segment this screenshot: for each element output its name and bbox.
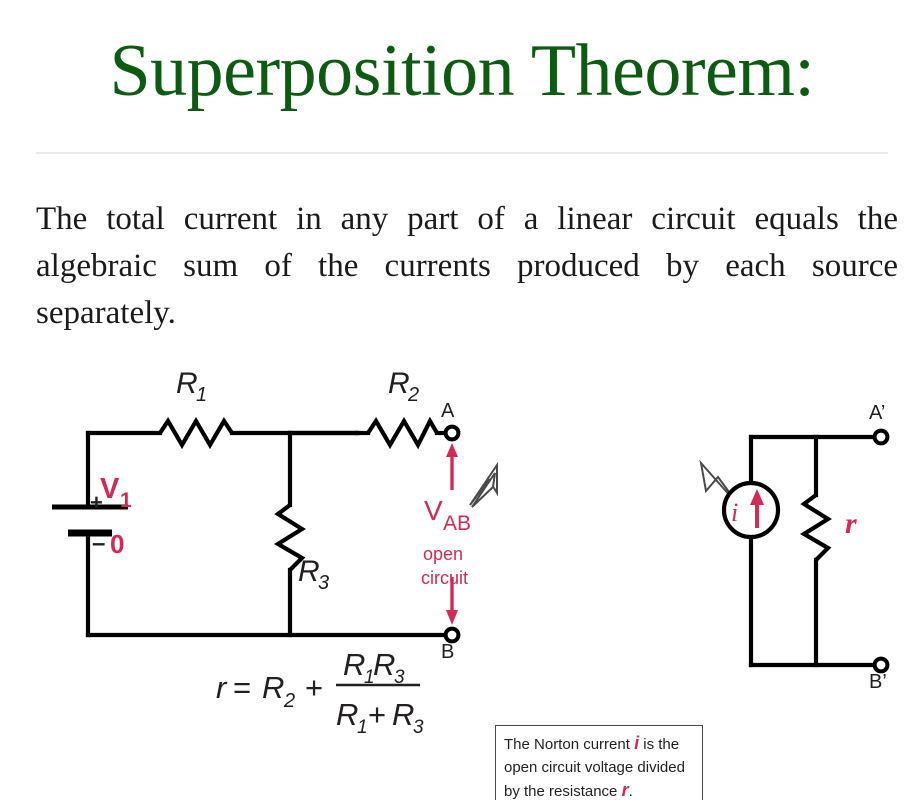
vab-sub: AB bbox=[443, 512, 471, 535]
source-v-sub: 1 bbox=[120, 489, 132, 512]
terminal-b-prime-node bbox=[875, 659, 888, 672]
title-divider bbox=[36, 152, 888, 154]
formula-den-b-sub: 3 bbox=[413, 717, 424, 738]
callout1-pre: The Norton current bbox=[504, 736, 630, 753]
norton-circuit-wires bbox=[751, 437, 876, 665]
formula-num-b: R bbox=[373, 647, 395, 682]
formula-term1: R bbox=[262, 670, 284, 705]
callout1-post: . bbox=[629, 783, 633, 800]
r3-sub: 3 bbox=[318, 572, 329, 594]
slide-page: Superposition Theorem: The total current… bbox=[0, 0, 924, 800]
norton-current-label: i bbox=[731, 498, 738, 527]
r1-sub: 1 bbox=[196, 384, 207, 406]
terminal-a-prime-node bbox=[875, 431, 888, 444]
formula-equals: = bbox=[233, 670, 251, 705]
formula-lhs: r bbox=[216, 670, 228, 705]
callout1-symbol-r: r bbox=[622, 780, 629, 800]
terminal-b-node bbox=[446, 629, 459, 642]
open-circuit-line2: circuit bbox=[421, 568, 468, 588]
terminal-a-node bbox=[446, 427, 459, 440]
terminal-b-label: B bbox=[441, 641, 454, 663]
circuit-figure: R 1 R 2 R 3 A B + – V 1 0 V AB bbox=[0, 355, 924, 755]
r1-label: R bbox=[176, 367, 198, 400]
r2-label: R bbox=[388, 367, 410, 400]
formula-den-a: R bbox=[336, 697, 358, 732]
formula-den-plus: + bbox=[368, 697, 386, 732]
formula-den-a-sub: 1 bbox=[357, 717, 368, 738]
formula-plus: + bbox=[305, 670, 323, 705]
source-zero-label: 0 bbox=[110, 529, 124, 559]
terminal-b-prime-label: B’ bbox=[869, 671, 887, 693]
resistance-formula: r = R 2 + R 1 R 3 R 1 + R 3 bbox=[216, 647, 424, 738]
norton-resistance-label: r bbox=[845, 507, 857, 540]
formula-term1-sub: 2 bbox=[283, 690, 295, 712]
battery-minus-sign: – bbox=[92, 530, 105, 557]
source-v-label: V bbox=[100, 473, 120, 505]
vab-label: V bbox=[424, 495, 443, 526]
formula-num-a: R bbox=[343, 647, 365, 682]
r3-label: R bbox=[298, 555, 320, 588]
formula-den-b: R bbox=[392, 697, 414, 732]
callout-norton-current: The Norton current i is the open circuit… bbox=[495, 725, 703, 800]
callout2-tail-left bbox=[472, 473, 495, 507]
left-circuit-wires bbox=[88, 421, 447, 635]
open-circuit-line1: open bbox=[423, 544, 463, 564]
callout-tails bbox=[470, 463, 740, 507]
page-title: Superposition Theorem: bbox=[0, 34, 924, 108]
r2-sub: 2 bbox=[407, 384, 419, 406]
terminal-a-prime-label: A’ bbox=[869, 402, 885, 424]
terminal-a-label: A bbox=[441, 400, 455, 422]
